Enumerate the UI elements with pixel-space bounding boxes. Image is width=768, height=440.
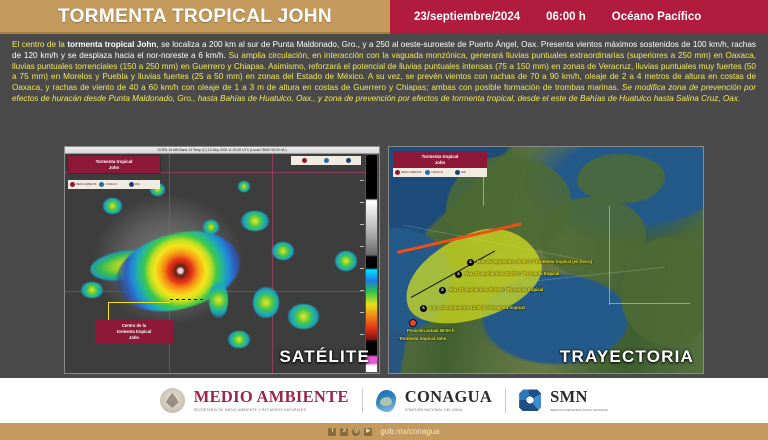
water-drop-icon	[99, 182, 104, 187]
mini-logo-smn-traj: SMN	[455, 169, 485, 175]
callout-leader-horizontal	[108, 302, 170, 303]
header-date: 23/septiembre/2024	[414, 11, 520, 23]
mexican-eagle-icon	[160, 388, 185, 413]
instagram-icon[interactable]: ◎	[352, 428, 360, 436]
trajectory-badge-line-2: John	[395, 160, 485, 166]
header-meta: 23/septiembre/2024 06:00 h Océano Pacífi…	[390, 0, 768, 34]
eagle-icon-tr	[302, 158, 307, 163]
mini-logo-medio-ambiente-traj: MEDIO AMBIENTE	[395, 169, 425, 175]
footer-logos: MEDIO AMBIENTE SECRETARÍA DE MEDIO AMBIE…	[0, 378, 768, 423]
facebook-icon[interactable]: f	[328, 428, 336, 436]
page-title: TORMENTA TROPICAL JOHN	[58, 6, 332, 28]
mini-logo-label-2: SMN	[135, 183, 140, 186]
trajectory-storm-badge: Tormenta tropical John MEDIO AMBIENTE CO…	[393, 151, 487, 177]
trajectory-panel-caption: TRAYECTORIA	[560, 347, 694, 367]
mini-logo-medio-ambiente: MEDIO AMBIENTE	[70, 182, 99, 188]
satellite-topright-logos	[291, 156, 361, 165]
header-title-block: TORMENTA TROPICAL JOHN	[0, 0, 390, 34]
storm-center-callout: Centro de la tormenta tropical John	[95, 320, 173, 344]
smn-subtitle: SERVICIO METEOROLÓGICO NACIONAL	[550, 408, 608, 412]
mini-logo-conagua-traj: CONAGUA	[425, 169, 455, 175]
conagua-title: CONAGUA	[405, 389, 492, 406]
track-label-2: Mar. 24 septiembre 00:00 h / Tormenta tr…	[449, 287, 543, 292]
colorbar-ticks	[354, 154, 364, 373]
track-point-2[interactable]: S	[439, 287, 446, 294]
medio-ambiente-subtitle: SECRETARÍA DE MEDIO AMBIENTE Y RECURSOS …	[194, 408, 349, 412]
bulletin-text-block: El centro de la tormenta tropical John, …	[0, 34, 768, 143]
x-icon[interactable]: X	[340, 428, 348, 436]
callout-leader-dashed	[170, 299, 204, 300]
traj-mini-label-0: MEDIO AMBIENTE	[401, 171, 422, 174]
youtube-icon[interactable]: ▶	[364, 428, 372, 436]
logo-conagua: CONAGUA COMISIÓN NACIONAL DEL AGUA	[363, 389, 505, 412]
current-position-label-1: Posición actual 06:00 h	[407, 328, 455, 333]
trajectory-panel[interactable]: S S S S Mié. 25 septiembre 00:00 h / Tor…	[388, 146, 704, 374]
water-drop-icon-tr	[324, 158, 329, 163]
trajectory-badge-top: Tormenta tropical John	[393, 151, 487, 168]
track-label-1: Lun. 23 septiembre 12:00 h / Tormenta tr…	[430, 305, 525, 310]
eagle-icon-traj	[395, 170, 400, 175]
smn-spiral-icon-traj	[455, 170, 460, 175]
mini-logo-conagua: CONAGUA	[99, 182, 128, 188]
smn-spiral-icon	[129, 182, 134, 187]
callout-line-3: John	[97, 335, 171, 341]
track-label-3: Mar. 24 septiembre 12:00 h / Tormenta tr…	[465, 271, 559, 276]
bulletin-header: TORMENTA TROPICAL JOHN 23/septiembre/202…	[0, 0, 768, 34]
bulletin-paragraph: El centro de la tormenta tropical John, …	[12, 40, 756, 105]
mini-logo-label-1: CONAGUA	[105, 183, 117, 186]
track-point-4[interactable]: S	[467, 259, 474, 266]
trajectory-map: S S S S Mié. 25 septiembre 00:00 h / Tor…	[389, 147, 703, 373]
mini-logo-label-0: MEDIO AMBIENTE	[76, 183, 97, 186]
traj-mini-label-1: CONAGUA	[431, 171, 443, 174]
social-bar: f X ◎ ▶ gob.mx/conagua	[0, 423, 768, 440]
smn-spiral-icon-tr	[346, 158, 351, 163]
satellite-panel-caption: SATÉLITE	[279, 347, 370, 367]
eagle-icon	[70, 182, 75, 187]
header-time: 06:00 h	[546, 11, 586, 23]
medio-ambiente-title: MEDIO AMBIENTE	[194, 389, 349, 406]
mini-logo-smn: SMN	[129, 182, 158, 188]
header-basin: Océano Pacífico	[612, 11, 701, 23]
track-point-1[interactable]: S	[420, 305, 427, 312]
logo-medio-ambiente: MEDIO AMBIENTE SECRETARÍA DE MEDIO AMBIE…	[147, 388, 362, 413]
panels-row: GOES-16 ABI Band 13 Temp (C) 23-Sep-2024…	[0, 143, 768, 378]
track-point-3[interactable]: S	[455, 271, 462, 278]
logo-smn: SMN SERVICIO METEOROLÓGICO NACIONAL	[506, 389, 621, 412]
satellite-panel[interactable]: GOES-16 ABI Band 13 Temp (C) 23-Sep-2024…	[64, 146, 380, 374]
water-drop-icon-traj	[425, 170, 430, 175]
track-label-4: Mié. 25 septiembre 00:00 h / Tormenta tr…	[477, 259, 592, 264]
satellite-metadata-strip: GOES-16 ABI Band 13 Temp (C) 23-Sep-2024…	[65, 147, 379, 154]
conagua-water-icon	[376, 390, 396, 412]
conagua-subtitle: COMISIÓN NACIONAL DEL AGUA	[405, 408, 492, 412]
current-position-label-2: Tormenta tropical John	[399, 336, 446, 341]
callout-leader-vertical	[108, 302, 109, 322]
satellite-badge-logos: MEDIO AMBIENTE CONAGUA SMN	[68, 180, 160, 189]
traj-mini-label-2: SMN	[461, 171, 466, 174]
smn-title: SMN	[550, 389, 608, 406]
smn-spiral-logo-icon	[519, 389, 541, 411]
satellite-storm-badge: Tormenta tropical John	[68, 156, 160, 173]
track-point-current[interactable]	[409, 319, 417, 327]
trajectory-badge-logos: MEDIO AMBIENTE CONAGUA SMN	[393, 168, 487, 177]
satellite-badge-line-2: John	[70, 165, 158, 171]
social-url[interactable]: gob.mx/conagua	[380, 427, 439, 436]
temperature-colorbar	[365, 154, 378, 373]
